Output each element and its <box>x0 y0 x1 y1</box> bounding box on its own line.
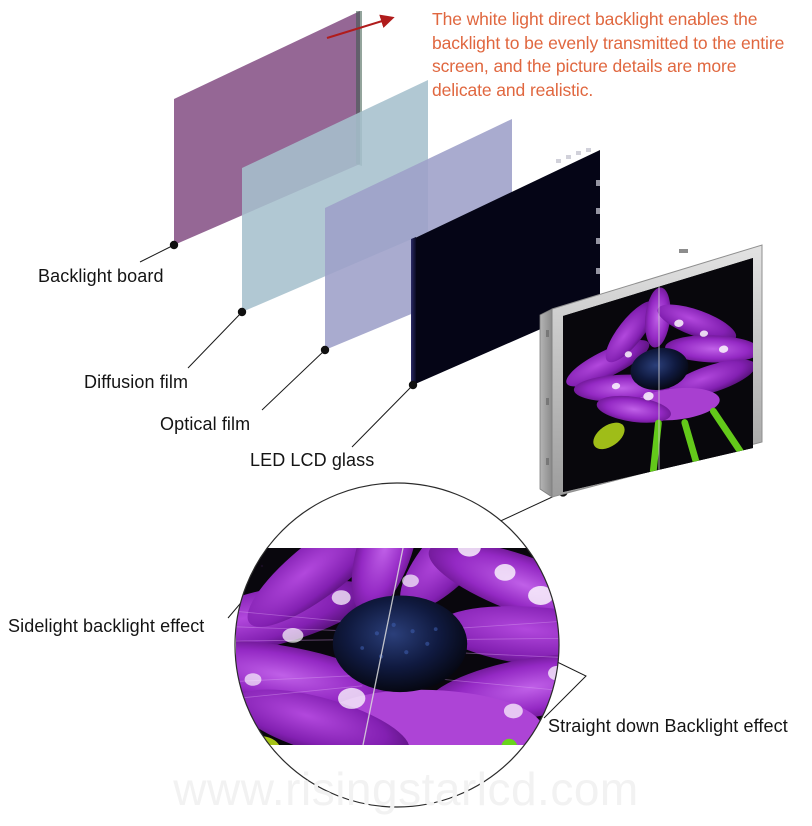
label-optical-film: Optical film <box>160 414 250 435</box>
diagram-vector-art <box>0 0 812 826</box>
diagram-canvas: The white light direct backlight enables… <box>0 0 812 826</box>
label-led-lcd-glass: LED LCD glass <box>250 450 374 471</box>
label-straight-down-backlight-effect: Straight down Backlight effect <box>548 716 788 737</box>
label-backlight-board: Backlight board <box>38 266 164 287</box>
magnified-screen-circle <box>153 473 659 826</box>
callout-description: The white light direct backlight enables… <box>432 8 792 102</box>
label-diffusion-film: Diffusion film <box>84 372 188 393</box>
label-sidelight-backlight-effect: Sidelight backlight effect <box>8 616 204 637</box>
